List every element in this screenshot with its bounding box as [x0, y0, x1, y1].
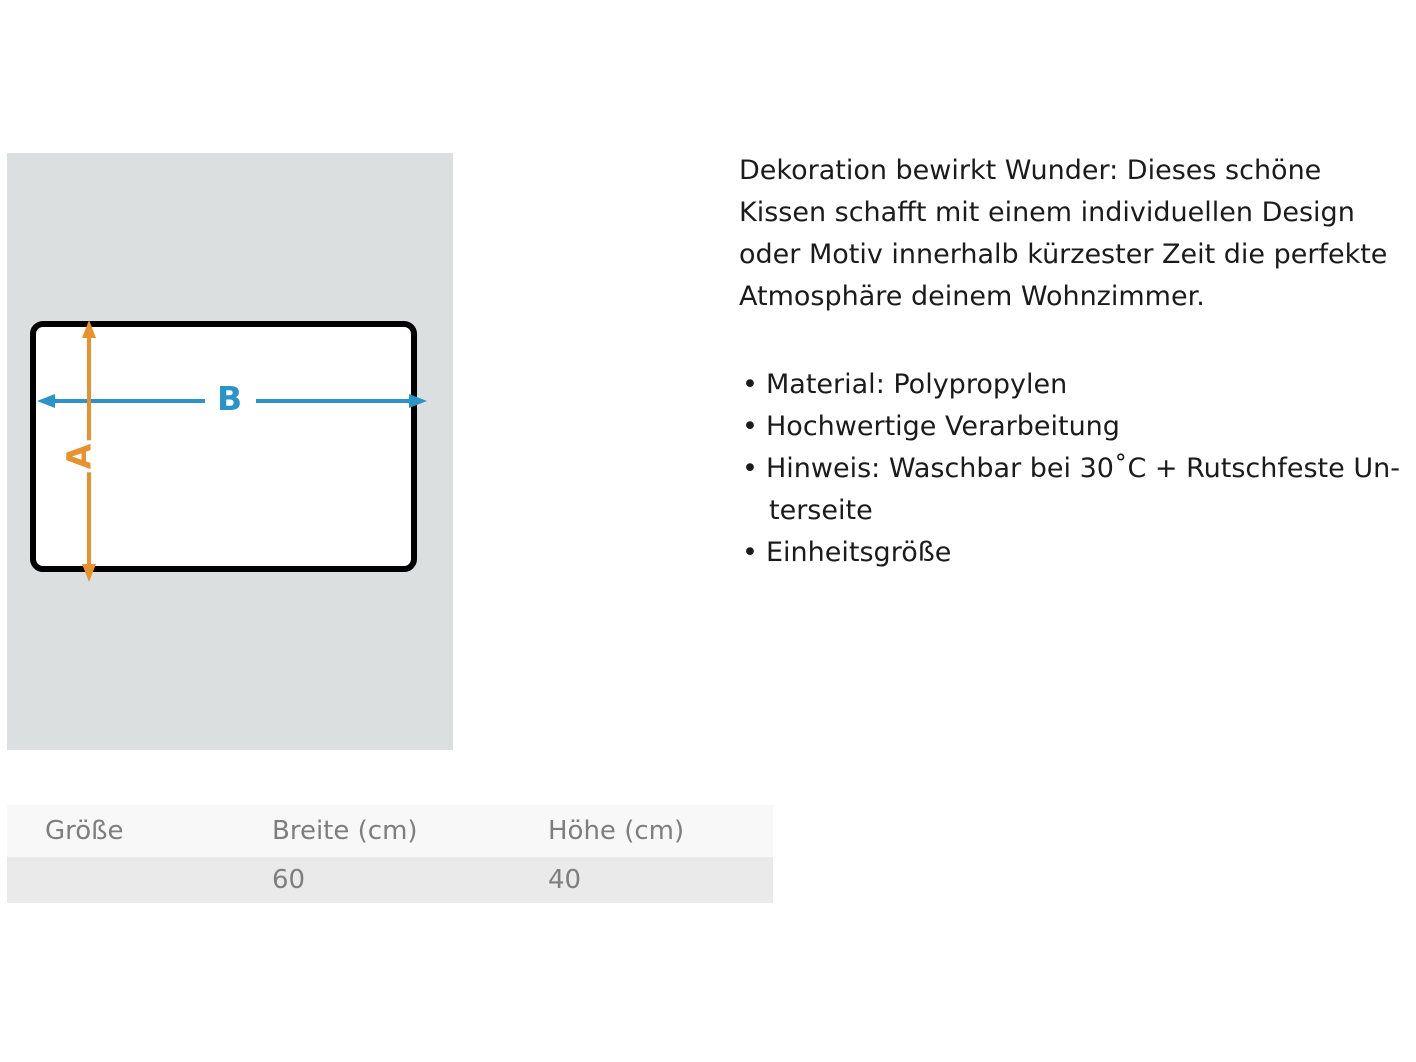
table-header-height: Höhe (cm): [538, 805, 773, 857]
bullet-icon: •: [742, 532, 758, 574]
product-description: Dekoration bewirkt Wunder: Dieses schöne…: [739, 150, 1415, 574]
cell-size: [7, 857, 262, 903]
feature-text: Hochwertige Verarbeitung: [766, 406, 1415, 448]
product-dimension-diagram: B A: [7, 153, 453, 750]
table-body: 60 40: [7, 857, 773, 903]
feature-text: Material: Polypropylen: [766, 364, 1415, 406]
size-table: Größe Breite (cm) Höhe (cm) 60 40: [7, 805, 773, 903]
bullet-icon: •: [742, 364, 758, 406]
table-header-row: Größe Breite (cm) Höhe (cm): [7, 805, 773, 857]
cell-width: 60: [262, 857, 538, 903]
cell-height: 40: [538, 857, 773, 903]
list-item: • Hochwertige Verarbeitung: [739, 406, 1415, 448]
table-header-size: Größe: [7, 805, 262, 857]
height-dimension-arrow: [81, 320, 97, 582]
table-row: 60 40: [7, 857, 773, 903]
feature-text: Hinweis: Waschbar bei 30˚C + Rutschfeste…: [766, 448, 1415, 490]
bullet-icon: •: [742, 448, 758, 490]
feature-text: Einheitsgröße: [766, 532, 1415, 574]
list-item: • Hinweis: Waschbar bei 30˚C + Rutschfes…: [739, 448, 1415, 532]
intro-paragraph: Dekoration bewirkt Wunder: Dieses schöne…: [739, 150, 1411, 318]
table-header-width: Breite (cm): [262, 805, 538, 857]
list-item: • Material: Polypropylen: [739, 364, 1415, 406]
table-header: Größe Breite (cm) Höhe (cm): [7, 805, 773, 857]
bullet-icon: •: [742, 406, 758, 448]
list-item: • Einheitsgröße: [739, 532, 1415, 574]
feature-list: • Material: Polypropylen • Hochwertige V…: [739, 364, 1415, 574]
feature-text-continuation: terseite: [766, 490, 1415, 532]
